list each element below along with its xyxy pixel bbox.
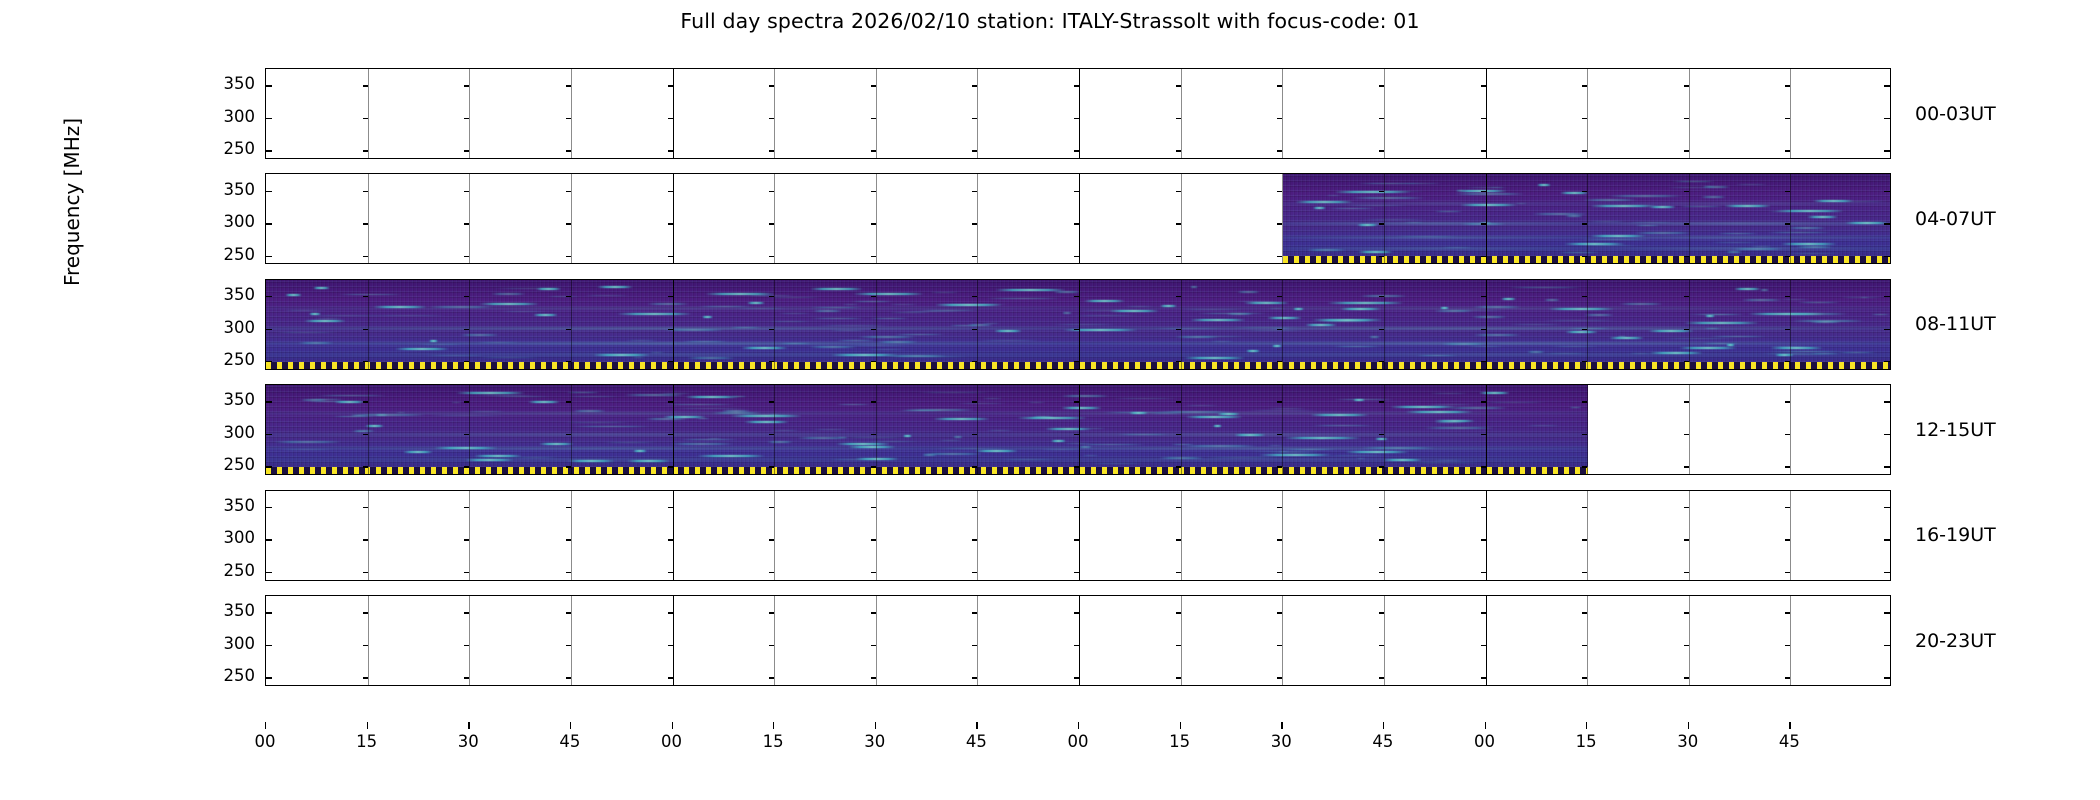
emission-streak — [1183, 445, 1257, 447]
y-tick-mark — [1884, 466, 1890, 467]
y-tick-mark — [1481, 256, 1486, 257]
y-tick-mark — [972, 118, 977, 119]
segment-separator — [1689, 491, 1690, 580]
emission-streak — [702, 316, 713, 318]
y-tick-mark — [266, 150, 272, 151]
emission-streak — [747, 302, 765, 304]
segment-separator — [1689, 280, 1690, 369]
spectrogram-row-04-07ut[interactable] — [265, 173, 1891, 264]
emission-streak — [274, 441, 342, 443]
y-tick-mark — [1684, 296, 1689, 297]
y-tick-mark — [1074, 612, 1079, 613]
emission-streak — [1324, 455, 1389, 456]
y-tick-mark — [668, 539, 673, 540]
y-tick-mark — [1481, 572, 1486, 573]
segment-separator — [1587, 174, 1588, 263]
y-tick-mark — [1176, 645, 1181, 646]
emission-streak — [275, 332, 338, 333]
emission-streak — [1358, 251, 1393, 253]
emission-streak — [429, 415, 505, 416]
y-tick-mark — [1379, 223, 1384, 224]
y-tick-mark — [566, 361, 571, 362]
y-tick-mark — [566, 572, 571, 573]
y-tick-mark — [363, 612, 368, 613]
emission-streak — [1703, 186, 1715, 187]
x-tick-mark — [367, 722, 368, 729]
emission-streak — [1153, 328, 1225, 329]
emission-streak — [889, 304, 919, 305]
y-tick-mark — [871, 85, 876, 86]
segment-separator — [977, 491, 978, 580]
emission-streak — [1542, 320, 1617, 321]
y-tick-mark — [769, 572, 774, 573]
y-tick-mark — [668, 118, 673, 119]
row-label-00-03ut: 00-03UT — [1915, 103, 1996, 125]
emission-streak — [1440, 307, 1449, 309]
emission-streak — [670, 443, 734, 445]
y-tick-mark — [1277, 256, 1282, 257]
emission-streak — [1190, 286, 1198, 288]
emission-streak — [573, 410, 606, 412]
emission-streak — [731, 396, 747, 398]
segment-separator — [977, 174, 978, 263]
y-tick-mark — [464, 296, 469, 297]
emission-streak — [1544, 299, 1560, 301]
emission-streak — [625, 340, 658, 341]
segment-separator — [1587, 69, 1588, 158]
emission-streak — [403, 451, 432, 453]
segment-separator — [1079, 69, 1080, 158]
y-tick-mark — [1277, 677, 1282, 678]
y-tick-mark — [363, 539, 368, 540]
x-tick-label: 00 — [1068, 732, 1089, 751]
segment-separator — [977, 280, 978, 369]
segment-separator — [1079, 385, 1080, 474]
emission-streak — [1267, 445, 1283, 446]
y-tick-label: 350 — [203, 76, 255, 93]
y-tick-label: 250 — [203, 141, 255, 158]
y-tick-mark — [769, 223, 774, 224]
emission-streak — [1181, 309, 1245, 310]
y-tick-mark — [1582, 85, 1587, 86]
emission-streak — [568, 460, 614, 462]
emission-streak — [1473, 306, 1521, 308]
y-tick-mark — [769, 645, 774, 646]
y-tick-mark — [1074, 223, 1079, 224]
x-tick-mark — [1688, 722, 1689, 729]
emission-streak — [967, 324, 993, 326]
y-tick-mark — [871, 677, 876, 678]
emission-streak — [1717, 233, 1758, 235]
x-tick-label: 45 — [966, 732, 987, 751]
x-tick-mark — [570, 722, 571, 729]
y-tick-mark — [668, 223, 673, 224]
segment-separator — [1486, 174, 1487, 263]
emission-streak — [1778, 313, 1848, 315]
y-tick-mark — [1379, 256, 1384, 257]
segment-separator — [876, 69, 877, 158]
segment-separator — [469, 385, 470, 474]
emission-streak — [1061, 395, 1109, 397]
emission-streak — [1796, 246, 1832, 248]
segment-separator — [469, 69, 470, 158]
segment-separator — [774, 174, 775, 263]
segment-separator — [1790, 491, 1791, 580]
emission-streak — [1232, 327, 1302, 328]
emission-streak — [1175, 336, 1219, 338]
x-tick-mark — [1383, 722, 1384, 729]
y-tick-mark — [566, 612, 571, 613]
y-axis-label: Frequency [MHz] — [60, 62, 84, 342]
emission-streak — [1076, 444, 1145, 446]
emission-streak — [721, 410, 751, 412]
y-tick-mark — [972, 466, 977, 467]
segment-separator — [1181, 174, 1182, 263]
y-tick-mark — [1884, 85, 1890, 86]
emission-streak — [369, 315, 446, 316]
emission-streak — [1532, 213, 1588, 215]
emission-streak — [429, 340, 439, 342]
y-tick-mark — [1176, 85, 1181, 86]
x-tick-label: 45 — [1779, 732, 1800, 751]
emission-streak — [978, 340, 1040, 341]
spectrogram-row-20-23ut[interactable] — [265, 595, 1891, 686]
emission-streak — [1634, 232, 1692, 234]
emission-streak — [1267, 317, 1303, 319]
y-tick-mark — [1074, 539, 1079, 540]
emission-streak — [313, 318, 343, 319]
emission-streak — [1125, 306, 1154, 307]
y-tick-mark — [1481, 85, 1486, 86]
y-tick-mark — [1074, 507, 1079, 508]
emission-streak — [298, 342, 334, 344]
emission-streak — [982, 323, 1000, 324]
y-tick-mark — [1582, 296, 1587, 297]
y-tick-mark — [1277, 507, 1282, 508]
segment-separator — [368, 385, 369, 474]
y-tick-mark — [1481, 539, 1486, 540]
y-tick-mark — [668, 612, 673, 613]
emission-streak — [855, 458, 898, 460]
segment-separator — [1282, 280, 1283, 369]
y-tick-label: 250 — [203, 457, 255, 474]
segment-separator — [1384, 174, 1385, 263]
y-tick-mark — [1582, 401, 1587, 402]
emission-streak — [1501, 298, 1515, 300]
emission-streak — [1760, 289, 1769, 291]
emission-streak — [1430, 393, 1468, 394]
emission-streak — [1590, 235, 1646, 237]
emission-streak — [1684, 322, 1759, 324]
segment-separator — [1384, 491, 1385, 580]
x-tick-label: 30 — [458, 732, 479, 751]
y-tick-mark — [1481, 466, 1486, 467]
y-tick-mark — [363, 507, 368, 508]
emission-streak — [1269, 452, 1321, 453]
y-tick-mark — [566, 85, 571, 86]
segment-separator — [1587, 385, 1588, 474]
emission-streak — [1609, 337, 1645, 339]
y-tick-mark — [1074, 466, 1079, 467]
y-tick-mark — [566, 150, 571, 151]
segment-separator — [673, 491, 674, 580]
segment-separator — [977, 596, 978, 685]
y-tick-mark — [1582, 572, 1587, 573]
spectrogram-row-12-15ut[interactable] — [265, 384, 1891, 475]
y-tick-mark — [1785, 434, 1790, 435]
emission-streak — [1482, 402, 1546, 403]
emission-streak — [866, 441, 919, 442]
emission-streak — [1679, 206, 1724, 208]
spectrogram-figure: Full day spectra 2026/02/10 station: ITA… — [0, 0, 2100, 800]
y-tick-mark — [1582, 150, 1587, 151]
y-tick-mark — [566, 191, 571, 192]
y-tick-mark — [266, 466, 272, 467]
emission-streak — [1565, 331, 1597, 333]
y-tick-mark — [871, 150, 876, 151]
emission-streak — [938, 440, 962, 441]
y-tick-mark — [1176, 256, 1181, 257]
emission-streak — [1779, 299, 1810, 300]
y-tick-label: 250 — [203, 563, 255, 580]
y-tick-mark — [1785, 645, 1790, 646]
y-tick-label: 300 — [203, 320, 255, 337]
emission-streak — [647, 303, 688, 305]
segment-separator — [1689, 596, 1690, 685]
y-tick-mark — [1074, 118, 1079, 119]
y-tick-mark — [363, 361, 368, 362]
y-tick-mark — [1884, 572, 1890, 573]
y-tick-mark — [266, 572, 272, 573]
emission-streak — [624, 394, 686, 396]
emission-streak — [917, 392, 990, 393]
x-tick-mark — [468, 722, 469, 729]
x-tick-mark — [773, 722, 774, 729]
y-tick-mark — [871, 256, 876, 257]
y-tick-mark — [1684, 434, 1689, 435]
emission-streak — [1315, 438, 1327, 439]
emission-streak — [1160, 305, 1177, 307]
y-tick-mark — [1684, 150, 1689, 151]
emission-streak — [696, 418, 711, 420]
emission-streak — [1526, 425, 1560, 426]
emission-streak — [1454, 193, 1525, 195]
emission-streak — [1580, 245, 1636, 246]
y-tick-mark — [1884, 507, 1890, 508]
y-tick-mark — [1684, 539, 1689, 540]
y-tick-mark — [769, 191, 774, 192]
y-tick-mark — [1481, 150, 1486, 151]
y-tick-mark — [1379, 329, 1384, 330]
emission-streak — [1045, 428, 1092, 430]
emission-streak — [1234, 434, 1267, 436]
y-tick-mark — [1884, 645, 1890, 646]
segment-separator — [1181, 69, 1182, 158]
y-tick-mark — [1074, 361, 1079, 362]
emission-streak — [1619, 303, 1663, 305]
row-label-08-11ut: 08-11UT — [1915, 313, 1996, 335]
y-tick-mark — [1785, 572, 1790, 573]
y-tick-mark — [1379, 572, 1384, 573]
emission-streak — [1649, 352, 1703, 354]
emission-streak — [1845, 222, 1889, 224]
segment-separator — [1587, 280, 1588, 369]
x-tick-mark — [976, 722, 977, 729]
y-tick-mark — [972, 401, 977, 402]
emission-streak — [1660, 338, 1737, 339]
emission-streak — [1117, 434, 1170, 436]
y-tick-mark — [1684, 677, 1689, 678]
emission-streak — [810, 288, 863, 290]
segment-separator — [571, 69, 572, 158]
y-tick-mark — [363, 256, 368, 257]
y-tick-mark — [1684, 223, 1689, 224]
emission-streak — [994, 330, 1022, 332]
emission-streak — [1190, 319, 1246, 321]
y-tick-mark — [1379, 118, 1384, 119]
row-label-04-07ut: 04-07UT — [1915, 208, 1996, 230]
y-tick-mark — [871, 645, 876, 646]
emission-streak — [1726, 251, 1742, 253]
segment-separator — [774, 69, 775, 158]
emission-streak — [309, 313, 320, 315]
y-tick-mark — [769, 507, 774, 508]
y-tick-mark — [363, 191, 368, 192]
emission-streak — [1312, 319, 1383, 321]
emission-streak — [1305, 324, 1337, 326]
emission-streak — [1767, 232, 1832, 234]
y-tick-mark — [1176, 612, 1181, 613]
emission-streak — [1701, 196, 1727, 198]
emission-streak — [778, 313, 811, 314]
emission-streak — [569, 396, 617, 397]
emission-streak — [898, 410, 943, 412]
y-tick-mark — [464, 223, 469, 224]
emission-streak — [986, 298, 1061, 300]
emission-streak — [829, 330, 867, 331]
spectrogram-row-16-19ut[interactable] — [265, 490, 1891, 581]
emission-streak — [935, 304, 1002, 306]
emission-streak — [1000, 459, 1056, 460]
emission-streak — [1775, 210, 1843, 212]
emission-streak — [1724, 205, 1771, 207]
y-tick-mark — [363, 223, 368, 224]
y-tick-mark — [972, 361, 977, 362]
y-tick-mark — [566, 223, 571, 224]
y-tick-mark — [1582, 434, 1587, 435]
segment-separator — [673, 596, 674, 685]
y-tick-mark — [1884, 118, 1890, 119]
emission-streak — [1635, 225, 1660, 227]
emission-streak — [1766, 354, 1842, 355]
emission-streak — [627, 460, 670, 462]
spectrogram-row-08-11ut[interactable] — [265, 279, 1891, 370]
emission-streak — [953, 436, 963, 438]
emission-streak — [1237, 291, 1260, 293]
y-tick-mark — [1277, 361, 1282, 362]
row-label-20-23ut: 20-23UT — [1915, 630, 1996, 652]
y-tick-mark — [363, 677, 368, 678]
y-tick-mark — [769, 434, 774, 435]
y-tick-mark — [266, 434, 272, 435]
y-tick-mark — [363, 466, 368, 467]
segment-separator — [876, 491, 877, 580]
segment-separator — [1384, 385, 1385, 474]
emission-streak — [1327, 302, 1404, 304]
y-tick-mark — [1176, 539, 1181, 540]
segment-separator — [876, 280, 877, 369]
y-tick-mark — [464, 645, 469, 646]
y-tick-mark — [266, 645, 272, 646]
y-tick-mark — [1884, 612, 1890, 613]
emission-streak — [460, 334, 499, 336]
x-tick-mark — [1281, 722, 1282, 729]
emission-streak — [1407, 462, 1482, 463]
y-tick-mark — [1074, 150, 1079, 151]
emission-streak — [426, 355, 486, 356]
y-tick-mark — [972, 572, 977, 573]
plot-area — [266, 280, 1890, 369]
emission-streak — [1197, 313, 1267, 315]
y-tick-label: 300 — [203, 425, 255, 442]
emission-streak — [809, 346, 857, 348]
y-tick-mark — [972, 612, 977, 613]
y-tick-mark — [1176, 223, 1181, 224]
emission-streak — [1460, 204, 1517, 206]
y-tick-mark — [668, 572, 673, 573]
emission-streak — [933, 418, 990, 420]
y-tick-mark — [972, 256, 977, 257]
emission-streak — [1488, 187, 1505, 188]
y-tick-mark — [1481, 401, 1486, 402]
y-tick-mark — [566, 118, 571, 119]
y-tick-mark — [1785, 150, 1790, 151]
y-tick-mark — [1785, 296, 1790, 297]
emission-streak — [1082, 455, 1099, 456]
emission-streak — [889, 312, 932, 313]
segment-separator — [876, 385, 877, 474]
emission-streak — [1509, 324, 1563, 325]
y-tick-mark — [464, 434, 469, 435]
y-tick-mark — [871, 361, 876, 362]
y-tick-mark — [769, 118, 774, 119]
segment-separator — [1689, 385, 1690, 474]
segment-separator — [469, 491, 470, 580]
emission-streak — [1732, 248, 1784, 250]
y-tick-mark — [1481, 191, 1486, 192]
y-tick-mark — [668, 645, 673, 646]
y-tick-mark — [1379, 401, 1384, 402]
y-tick-mark — [1684, 612, 1689, 613]
y-tick-mark — [1785, 361, 1790, 362]
emission-streak — [1679, 347, 1738, 349]
spectrogram-row-00-03ut[interactable] — [265, 68, 1891, 159]
emission-streak — [1434, 460, 1464, 461]
segment-separator — [1587, 596, 1588, 685]
emission-streak — [836, 340, 876, 342]
segment-separator — [1689, 69, 1690, 158]
y-tick-mark — [266, 329, 272, 330]
emission-streak — [1184, 405, 1220, 406]
y-tick-mark — [871, 572, 876, 573]
y-tick-mark — [363, 329, 368, 330]
y-tick-mark — [566, 466, 571, 467]
y-tick-mark — [871, 434, 876, 435]
y-tick-mark — [871, 191, 876, 192]
emission-streak — [539, 443, 574, 445]
y-tick-mark — [1176, 434, 1181, 435]
y-tick-mark — [668, 256, 673, 257]
